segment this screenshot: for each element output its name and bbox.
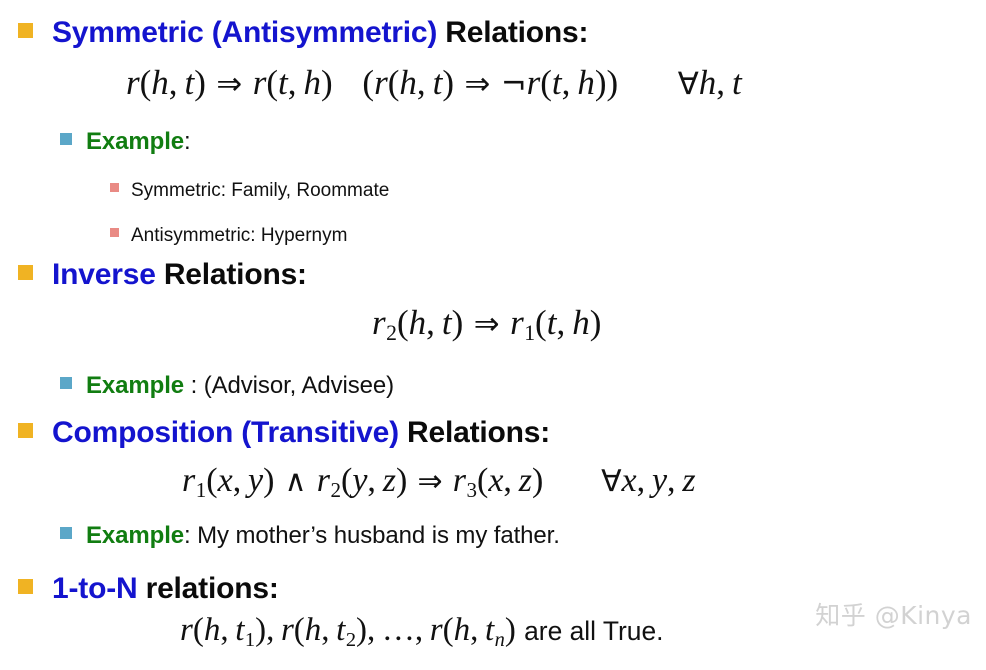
example-composition-label: Example — [86, 522, 184, 549]
bullet-square-level1-icon — [18, 23, 33, 38]
watermark-zhihu-kinya: 知乎 @Kinya — [815, 596, 972, 632]
bullet-square-level3-icon — [110, 183, 119, 192]
bullet-item-example-symmetric: Example: — [60, 128, 191, 156]
bullet-item-composition-relations: Composition (Transitive) Relations: — [18, 416, 550, 450]
example-symmetric-label: Example — [86, 128, 184, 155]
list-item-symmetric-examples: Symmetric: Family, Roommate — [110, 180, 389, 202]
list-item-antisymmetric-examples: Antisymmetric: Hypernym — [110, 225, 347, 247]
heading-composition-text: Composition (Transitive) Relations: — [52, 416, 550, 450]
heading-symmetric-rest: Relations: — [437, 16, 588, 49]
heading-one-to-n-text: 1-to-N relations: — [52, 572, 279, 606]
bullet-square-level1-icon — [18, 423, 33, 438]
heading-symmetric-keyword: Symmetric (Antisymmetric) — [52, 16, 437, 49]
heading-composition-keyword: Composition (Transitive) — [52, 416, 399, 449]
bullet-square-level1-icon — [18, 265, 33, 280]
formula-one-to-n: r(h, t1), r(h, t2), …, r(h, tn) are all … — [180, 612, 663, 652]
heading-inverse-keyword: Inverse — [52, 258, 156, 291]
bullet-square-level2-icon — [60, 527, 72, 539]
formula-symmetric: r(h, t)⇒r(t, h)(r(h, t)⇒¬r(t, h))∀h, t — [126, 63, 742, 103]
bullet-item-one-to-n-relations: 1-to-N relations: — [18, 572, 279, 606]
bullet-square-level2-icon — [60, 133, 72, 145]
heading-inverse-text: Inverse Relations: — [52, 258, 307, 292]
example-inverse-label: Example — [86, 372, 184, 399]
heading-inverse-rest: Relations: — [156, 258, 307, 291]
example-composition-rest: : My mother’s husband is my father. — [184, 522, 560, 549]
bullet-item-example-inverse: Example : (Advisor, Advisee) — [60, 372, 394, 400]
antisymmetric-examples-text: Antisymmetric: Hypernym — [131, 225, 347, 247]
symmetric-examples-text: Symmetric: Family, Roommate — [131, 180, 389, 202]
slide-canvas: Symmetric (Antisymmetric) Relations: r(h… — [0, 0, 986, 670]
formula-composition: r1(x, y)∧r2(y, z)⇒r3(x, z)∀x, y, z — [182, 462, 696, 503]
example-inverse-rest: : (Advisor, Advisee) — [184, 372, 394, 399]
formula-inverse: r2(h, t)⇒r1(t, h) — [372, 303, 601, 346]
bullet-square-level2-icon — [60, 377, 72, 389]
example-symmetric-text: Example: — [86, 128, 191, 156]
heading-one-to-n-rest: relations: — [137, 572, 278, 605]
heading-one-to-n-keyword: 1-to-N — [52, 572, 137, 605]
bullet-item-inverse-relations: Inverse Relations: — [18, 258, 307, 292]
bullet-item-symmetric-relations: Symmetric (Antisymmetric) Relations: — [18, 16, 588, 50]
bullet-square-level1-icon — [18, 579, 33, 594]
heading-composition-rest: Relations: — [399, 416, 550, 449]
heading-symmetric-text: Symmetric (Antisymmetric) Relations: — [52, 16, 588, 50]
bullet-item-example-composition: Example: My mother’s husband is my fathe… — [60, 522, 560, 550]
example-symmetric-rest: : — [184, 128, 191, 155]
example-inverse-text: Example : (Advisor, Advisee) — [86, 372, 394, 400]
bullet-square-level3-icon — [110, 228, 119, 237]
example-composition-text: Example: My mother’s husband is my fathe… — [86, 522, 560, 550]
